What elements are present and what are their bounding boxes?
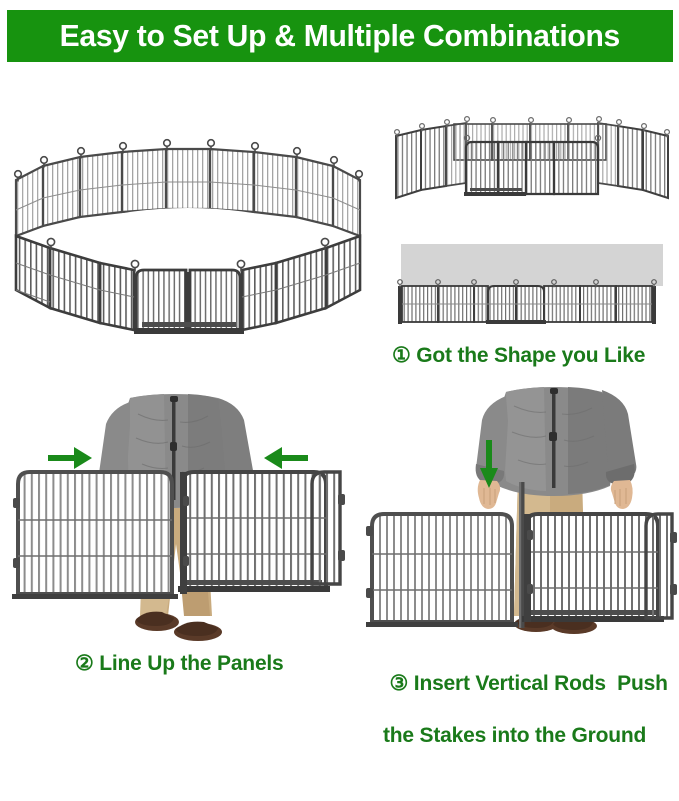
line-up-panels-illustration bbox=[2, 398, 346, 650]
vertical-rod bbox=[519, 482, 525, 628]
straight-fence-run-illustration bbox=[388, 232, 676, 330]
arrow-right-icon bbox=[48, 447, 92, 469]
step-3-caption: ③ Insert Vertical Rods Push the Stakes i… bbox=[367, 645, 668, 801]
arrow-left-icon bbox=[264, 447, 308, 469]
infographic-page: Easy to Set Up & Multiple Combinations bbox=[0, 0, 679, 699]
fence-panel-left bbox=[12, 472, 178, 599]
rect-pen-left-side bbox=[396, 123, 466, 198]
step-1-caption: ① Got the Shape you Like bbox=[392, 343, 645, 368]
circular-playpen-illustration bbox=[2, 118, 380, 338]
pen-gate bbox=[134, 270, 244, 334]
straight-run-panels bbox=[398, 286, 656, 324]
fence-panel-right-group bbox=[522, 514, 677, 622]
wall-backdrop bbox=[401, 244, 663, 286]
rect-pen-right-side bbox=[598, 123, 668, 198]
step-3-line-1: ③ Insert Vertical Rods Push bbox=[390, 672, 668, 695]
rectangular-playpen-illustration bbox=[388, 112, 676, 220]
fence-panel-left bbox=[366, 514, 518, 627]
insert-rods-illustration bbox=[358, 398, 678, 646]
step-3-line-2: the Stakes into the Ground bbox=[367, 723, 668, 749]
rect-pen-front bbox=[464, 142, 598, 196]
step-2-caption: ② Line Up the Panels bbox=[75, 651, 284, 676]
header-banner: Easy to Set Up & Multiple Combinations bbox=[7, 10, 673, 62]
fence-panel-right-group bbox=[178, 472, 345, 594]
page-title: Easy to Set Up & Multiple Combinations bbox=[60, 18, 620, 54]
